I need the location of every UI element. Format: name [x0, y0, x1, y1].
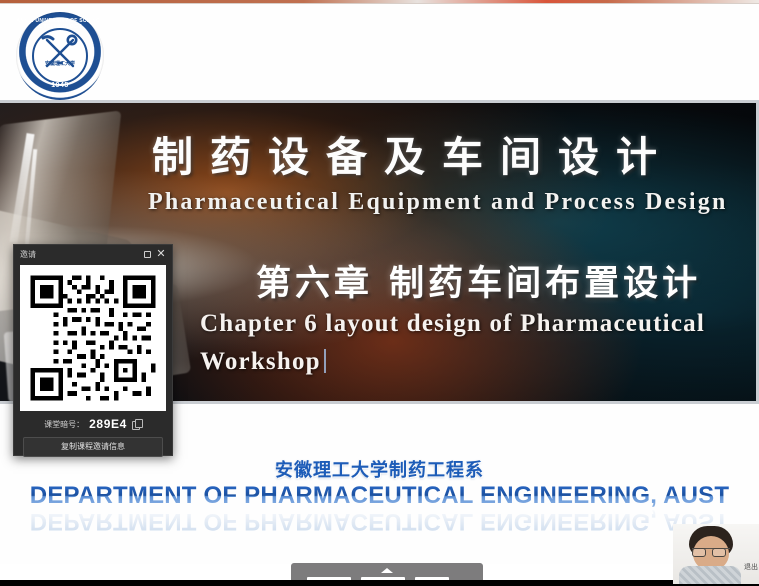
seal-chinese-name: 安徽理工大学	[16, 60, 104, 67]
invite-panel-titlebar[interactable]: 邀请 ✕	[14, 245, 172, 263]
course-invite-panel[interactable]: 邀请 ✕	[13, 244, 173, 456]
crossed-tools-icon	[34, 30, 86, 82]
course-invite-qr-code[interactable]	[26, 271, 160, 405]
bottom-letterbox	[0, 580, 759, 586]
chapter-title-chinese: 第六章 制药车间布置设计	[256, 255, 701, 306]
department-name-english: DEPARTMENT OF PHARMACEUTICAL ENGINEERING…	[0, 482, 759, 510]
qr-code-container	[20, 265, 166, 411]
chapter-title-english: Chapter 6 layout design of Pharmaceutica…	[200, 305, 759, 381]
class-code-row: 课堂暗号： 289E4	[14, 413, 172, 435]
chapter-title-english-text: Chapter 6 layout design of Pharmaceutica…	[200, 310, 705, 375]
class-code-label: 课堂暗号：	[44, 419, 84, 430]
copy-invite-button[interactable]: 复制课程邀请信息	[23, 437, 163, 457]
department-name-chinese: 安徽理工大学制药工程系	[0, 456, 759, 482]
course-title-english: Pharmaceutical Equipment and Process Des…	[148, 189, 728, 216]
copy-icon[interactable]	[132, 419, 142, 429]
course-title-chinese: 制药设备及车间设计	[152, 123, 674, 183]
seal-founding-year: 1945	[16, 82, 104, 89]
university-seal-logo: ANHUI UNIVERSITY OF SCIENCE & TECHNOLOGY…	[10, 12, 110, 100]
class-code-value: 289E4	[89, 417, 127, 431]
expand-icon[interactable]	[140, 247, 154, 261]
glasses-left-lens	[692, 548, 706, 557]
text-caret	[324, 349, 326, 373]
close-icon[interactable]: ✕	[154, 247, 168, 261]
exit-label[interactable]: 退出	[744, 562, 758, 572]
screen-share-viewport: ANHUI UNIVERSITY OF SCIENCE & TECHNOLOGY…	[0, 0, 759, 586]
department-name-english-reflection: DEPARTMENT OF PHARMACEUTICAL ENGINEERING…	[0, 507, 759, 535]
webcam-person-body	[679, 566, 741, 584]
chevron-up-icon[interactable]	[381, 568, 393, 573]
presenter-webcam-thumbnail[interactable]: 退出	[673, 524, 759, 584]
invite-panel-title: 邀请	[20, 249, 140, 260]
glasses-right-lens	[712, 548, 726, 557]
